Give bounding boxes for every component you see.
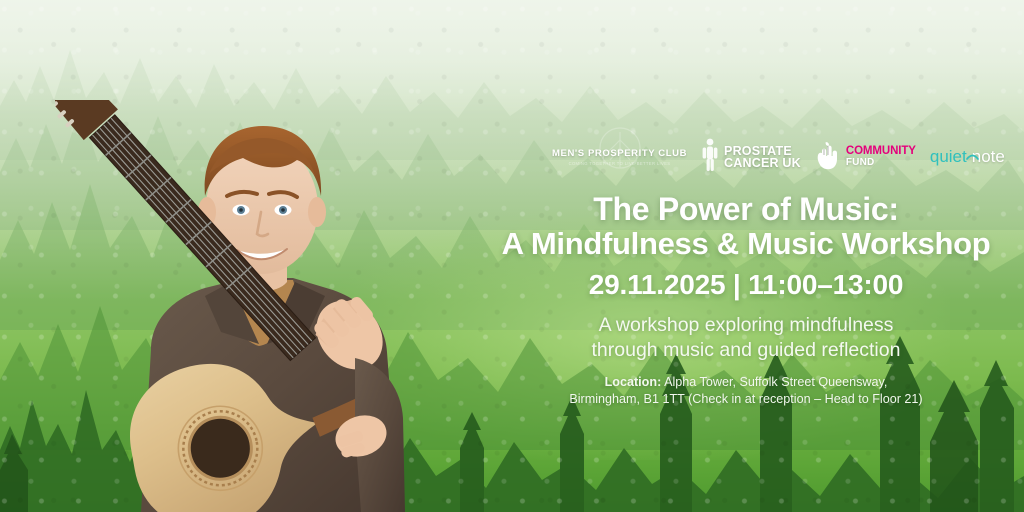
event-location-line2: Birmingham, B1 1TT (Check in at receptio… — [569, 392, 922, 406]
logo-mens-prosperity-club: MEN'S PROSPERITY CLUB COMING TOGETHER TO… — [552, 148, 687, 166]
sponsor-logo-strip: MEN'S PROSPERITY CLUB COMING TOGETHER TO… — [552, 132, 972, 182]
photo-man-with-guitar — [55, 100, 475, 512]
logo-qn-quiet: quiet — [930, 147, 967, 167]
event-datetime: 29.11.2025 | 11:00–13:00 — [486, 269, 1006, 301]
event-title-line1: The Power of Music: — [593, 191, 898, 227]
event-title-line2: A Mindfulness & Music Workshop — [486, 227, 1006, 260]
event-copy-block: The Power of Music: A Mindfulness & Musi… — [486, 192, 1006, 407]
event-description-line2: through music and guided reflection — [592, 339, 901, 361]
logo-quietnote: quietnote — [930, 147, 1005, 167]
event-description: A workshop exploring mindfulness through… — [486, 313, 1006, 363]
logo-pcuk-line2: CANCER UK — [724, 156, 801, 170]
crossed-fingers-hand-icon — [815, 140, 841, 175]
logo-cf-fund: FUND — [846, 158, 916, 168]
logo-community-fund: COMMUNITY FUND — [815, 140, 916, 175]
event-location-label: Location: — [605, 375, 662, 389]
logo-prostate-cancer-uk: PROSTATE CANCER UK — [701, 138, 801, 177]
man-figure-icon — [701, 138, 719, 177]
logo-cf-text: COMMUNITY FUND — [846, 146, 916, 168]
event-banner: MEN'S PROSPERITY CLUB COMING TOGETHER TO… — [0, 0, 1024, 512]
event-description-line1: A workshop exploring mindfulness — [599, 314, 894, 336]
event-title: The Power of Music: A Mindfulness & Musi… — [486, 192, 1006, 260]
logo-pcuk-text: PROSTATE CANCER UK — [724, 145, 801, 169]
arc-accent-icon — [966, 145, 979, 165]
tree-emblem-icon — [593, 126, 647, 177]
event-location: Location: Alpha Tower, Suffolk Street Qu… — [486, 374, 1006, 407]
event-location-line1: Alpha Tower, Suffolk Street Queensway, — [664, 375, 887, 389]
